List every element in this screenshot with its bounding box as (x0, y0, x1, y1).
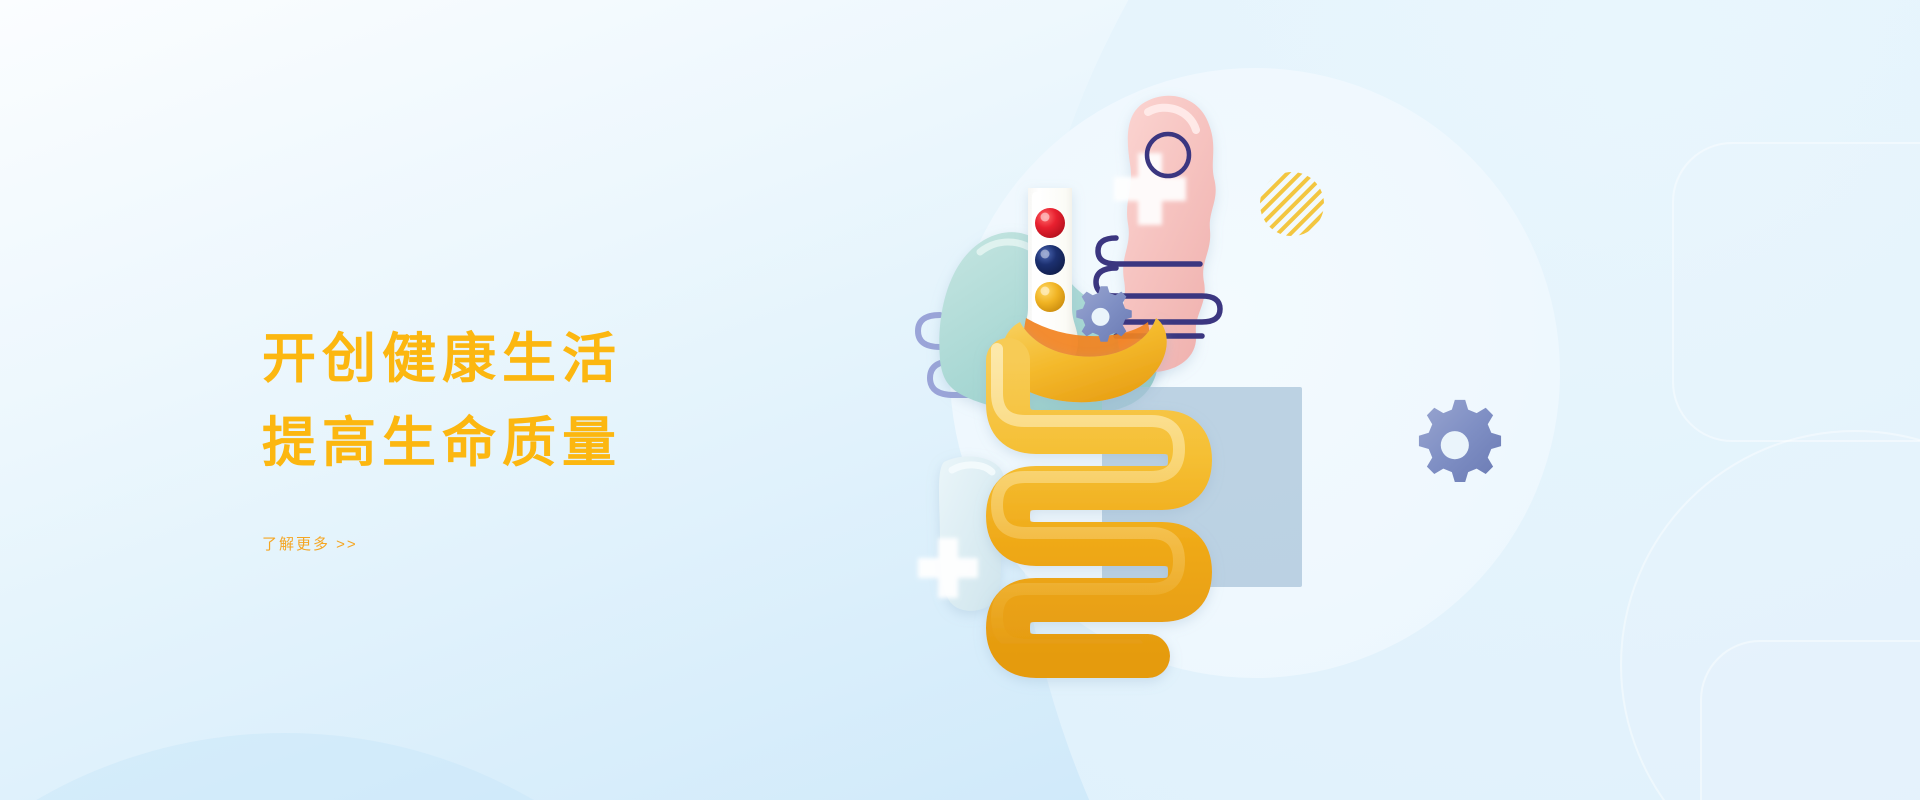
bead-red (1035, 208, 1065, 238)
bead-yellow (1035, 282, 1065, 312)
striped-circle (1256, 168, 1328, 240)
background-circle-bottom-left (0, 733, 780, 800)
bead-navy (1035, 245, 1065, 275)
background-rounded-rect-1 (1672, 142, 1920, 442)
hero-banner: 开创健康生活 提高生命质量 了解更多 >> (0, 0, 1920, 800)
learn-more-link[interactable]: 了解更多 >> (262, 533, 358, 554)
headline-line-2: 提高生命质量 (262, 402, 822, 486)
digestive-system-illustration (880, 60, 1580, 740)
background-rounded-rect-3 (1700, 640, 1920, 800)
test-tube-beads (1035, 208, 1065, 312)
headline-line-1: 开创健康生活 (262, 318, 822, 402)
gear-icon-small (1076, 286, 1132, 342)
banner-copy: 开创健康生活 提高生命质量 了解更多 >> (262, 318, 822, 554)
gear-icon-large (1419, 400, 1501, 482)
